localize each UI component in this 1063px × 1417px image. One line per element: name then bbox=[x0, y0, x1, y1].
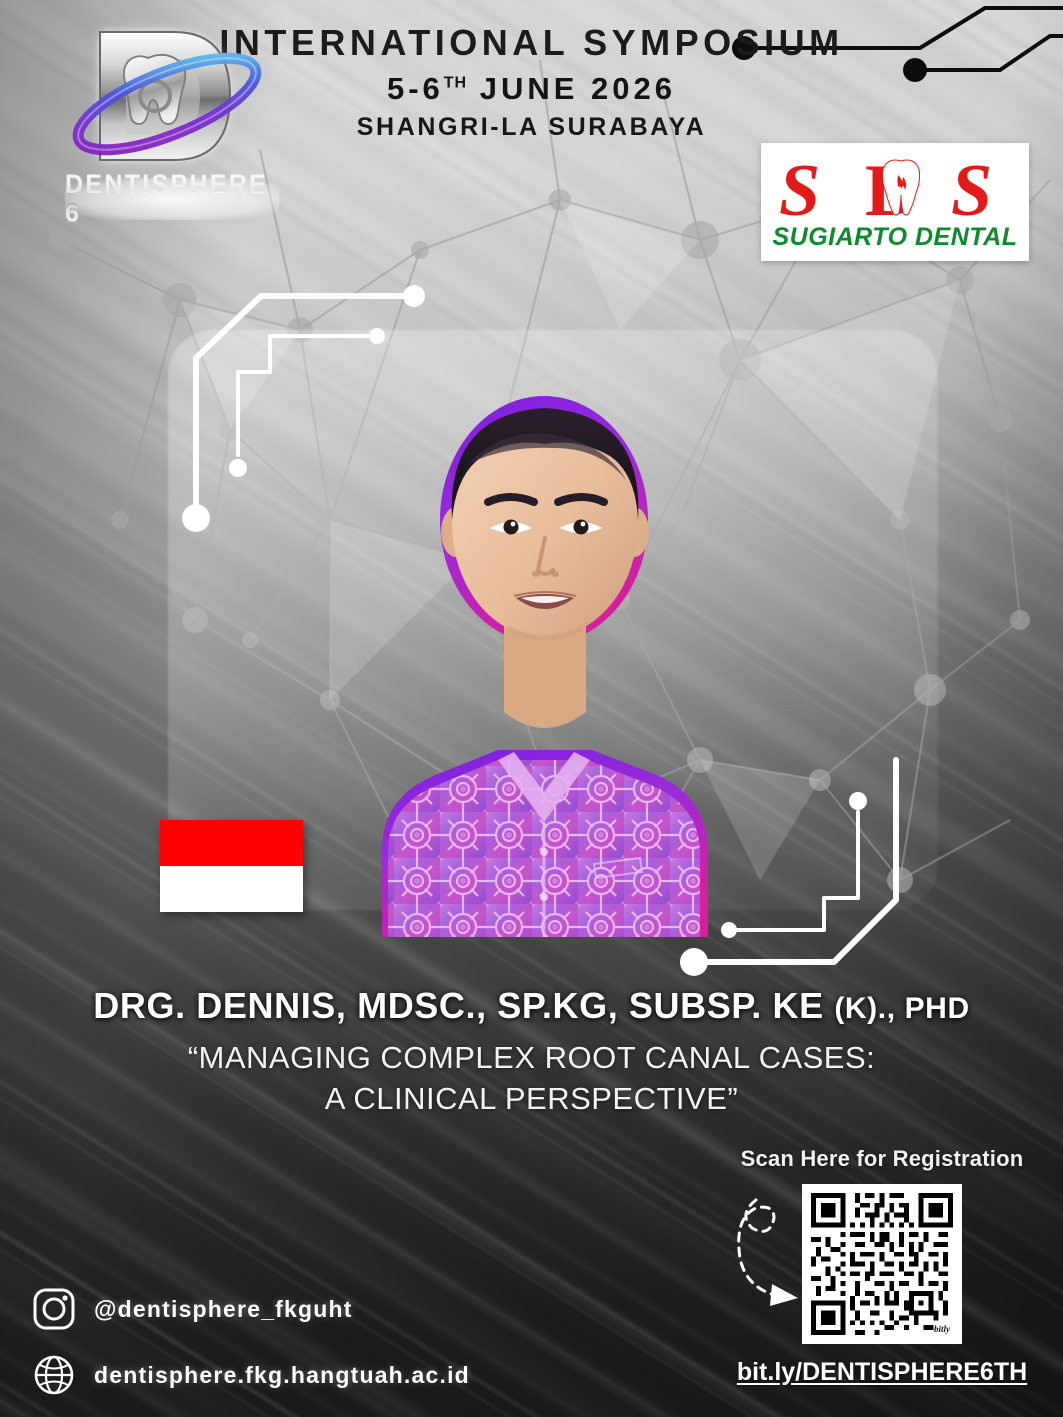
social-row-instagram[interactable]: @dentisphere_fkguht bbox=[32, 1283, 470, 1335]
qr-code[interactable]: bitly bbox=[802, 1184, 962, 1344]
sds-letters: S D S bbox=[769, 153, 1021, 225]
flag-stripe-red bbox=[160, 820, 303, 866]
speaker-portrait bbox=[348, 352, 738, 937]
date-month-year: JUNE 2026 bbox=[480, 71, 676, 106]
dentisphere-wordmark-text: DENTISPHERE 6 bbox=[65, 170, 279, 228]
sponsor-logo-sugiarto-dental: S D S SUGIARTO DENTAL bbox=[761, 143, 1029, 261]
scan-here-label: Scan Here for Registration bbox=[728, 1146, 1036, 1172]
speaker-name: DRG. DENNIS, MDSC., SP.KG, SUBSP. KE (K)… bbox=[0, 985, 1063, 1027]
qr-code-graphic bbox=[811, 1193, 953, 1335]
speaker-name-main: DRG. DENNIS, MDSC., SP.KG, SUBSP. KE bbox=[93, 985, 834, 1026]
registration-block: Scan Here for Registration bbox=[706, 1146, 1036, 1387]
dentisphere-logo: DENTISPHERE 6 bbox=[62, 18, 272, 218]
instagram-icon bbox=[32, 1287, 76, 1331]
website-url: dentisphere.fkg.hangtuah.ac.id bbox=[94, 1362, 470, 1389]
indonesia-flag bbox=[160, 820, 303, 912]
instagram-handle: @dentisphere_fkguht bbox=[94, 1296, 353, 1323]
sds-letter-s1: S bbox=[779, 149, 820, 234]
talk-title: “MANAGING COMPLEX ROOT CANAL CASES: A CL… bbox=[0, 1038, 1063, 1120]
date-days: 5-6 bbox=[387, 71, 444, 106]
talk-title-line1: “MANAGING COMPLEX ROOT CANAL CASES: bbox=[0, 1038, 1063, 1079]
dentisphere-wordmark: DENTISPHERE 6 bbox=[65, 178, 279, 220]
social-row-website[interactable]: dentisphere.fkg.hangtuah.ac.id bbox=[32, 1349, 470, 1401]
sds-letter-s2: S bbox=[951, 149, 992, 234]
social-links: @dentisphere_fkguht dentisphere.fkg.hang… bbox=[32, 1283, 470, 1401]
speaker-name-suffix: (K)., PHD bbox=[834, 992, 969, 1025]
date-ordinal: TH bbox=[444, 75, 467, 92]
poster-canvas: INTERNATIONAL SYMPOSIUM 5-6TH JUNE 2026 … bbox=[0, 0, 1063, 1417]
flag-stripe-white bbox=[160, 866, 303, 912]
qr-brand-label: bitly bbox=[934, 1324, 950, 1334]
globe-icon bbox=[32, 1353, 76, 1397]
registration-link[interactable]: bit.ly/DENTISPHERE6TH bbox=[728, 1358, 1036, 1387]
talk-title-line2: A CLINICAL PERSPECTIVE” bbox=[0, 1079, 1063, 1120]
tooth-icon bbox=[881, 159, 921, 217]
dentisphere-d-tooth-orbit-logo bbox=[62, 18, 272, 178]
